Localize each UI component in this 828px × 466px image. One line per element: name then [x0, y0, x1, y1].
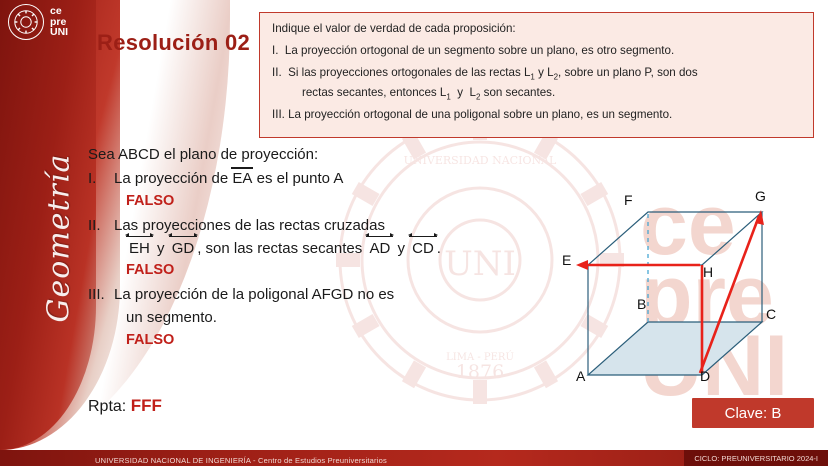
solution-item-2-line2: EH y GD, son las rectas secantes AD y CD…	[88, 240, 548, 258]
line-GD: GD	[169, 240, 198, 258]
solution-item-1-text: La proyección de EA es el punto A	[114, 170, 548, 188]
solution-item-3-text: La proyección de la poligonal AFGD no es	[114, 286, 548, 304]
solution-item-1-num: I.	[88, 170, 114, 188]
solution-item-2-line2-b: , son las rectas secantes	[197, 240, 366, 257]
page-title: Resolución 02	[97, 30, 250, 56]
rpta-label: Rpta:	[88, 398, 126, 415]
vertex-label-F: F	[624, 192, 633, 208]
statement-item-3: III. La proyección ortogonal de una poli…	[272, 107, 801, 124]
vertex-label-H: H	[703, 264, 713, 280]
conn-y-2: y	[393, 240, 409, 257]
solution-item-2-num: II.	[88, 217, 114, 235]
svg-text:1876: 1876	[456, 361, 504, 383]
solution-item-2-line2-text: EH y GD, son las rectas secantes AD y CD…	[126, 240, 548, 258]
cepre-logo-text: ce pre UNI	[50, 6, 68, 38]
verdict-3: FALSO	[126, 332, 548, 348]
footer-right-text: CICLO: PREUNIVERSITARIO 2024-I	[684, 450, 828, 466]
logo-line-3: UNI	[50, 27, 68, 38]
answer-key-badge: Clave: B	[692, 398, 814, 428]
solution-item-2: II. Las proyecciones de las rectas cruza…	[88, 217, 548, 235]
cube-diagram-svg	[540, 170, 820, 395]
vertex-label-C: C	[766, 306, 776, 322]
solution-lead: Sea ABCD el plano de proyección:	[88, 146, 548, 164]
solution-lead-text: Sea ABCD el plano de proyección:	[88, 146, 548, 164]
vertex-label-E: E	[562, 252, 571, 268]
cube-figure: F G E H B C A D	[540, 170, 820, 395]
conn-y-1: y	[153, 240, 169, 257]
final-answer: Rpta: FFF	[88, 396, 162, 416]
solution-item-2-text: Las proyecciones de las rectas cruzadas	[114, 217, 548, 235]
solution-body: Sea ABCD el plano de proyección: I. La p…	[88, 146, 548, 356]
vertex-label-B: B	[637, 296, 646, 312]
solution-item-3-line2-text: un segmento.	[126, 309, 548, 327]
line-EH: EH	[126, 240, 153, 258]
statement-item-2-cont: rectas secantes, entonces L1 y L2 son se…	[272, 85, 801, 103]
solution-item-2-period: .	[437, 240, 441, 257]
solution-item-1: I. La proyección de EA es el punto A	[88, 170, 548, 188]
vertex-label-A: A	[576, 368, 585, 384]
segment-EA: EA	[232, 170, 252, 188]
solution-item-1-text-b: es el punto A	[252, 170, 343, 187]
left-band-inner	[0, 0, 96, 450]
statement-box: Indique el valor de verdad de cada propo…	[259, 12, 814, 138]
rpta-value: FFF	[131, 396, 162, 415]
line-CD: CD	[409, 240, 437, 258]
line-AD: AD	[366, 240, 393, 258]
statement-item-2: II. Si las proyecciones ortogonales de l…	[272, 65, 801, 83]
solution-item-3-line2: un segmento.	[88, 309, 548, 327]
statement-intro: Indique el valor de verdad de cada propo…	[272, 21, 801, 38]
verdict-2: FALSO	[126, 262, 548, 278]
solution-item-3-num: III.	[88, 286, 114, 304]
statement-item-1: I. La proyección ortogonal de un segment…	[272, 43, 801, 60]
cepre-logo: ce pre UNI	[8, 4, 68, 40]
vertex-label-D: D	[700, 368, 710, 384]
vertex-label-G: G	[755, 188, 766, 204]
verdict-1: FALSO	[126, 193, 548, 209]
solution-item-1-text-a: La proyección de	[114, 170, 232, 187]
uni-seal-icon	[8, 4, 44, 40]
solution-item-3: III. La proyección de la poligonal AFGD …	[88, 286, 548, 304]
footer-left-text: UNIVERSIDAD NACIONAL DE INGENIERÍA - Cen…	[95, 456, 387, 465]
